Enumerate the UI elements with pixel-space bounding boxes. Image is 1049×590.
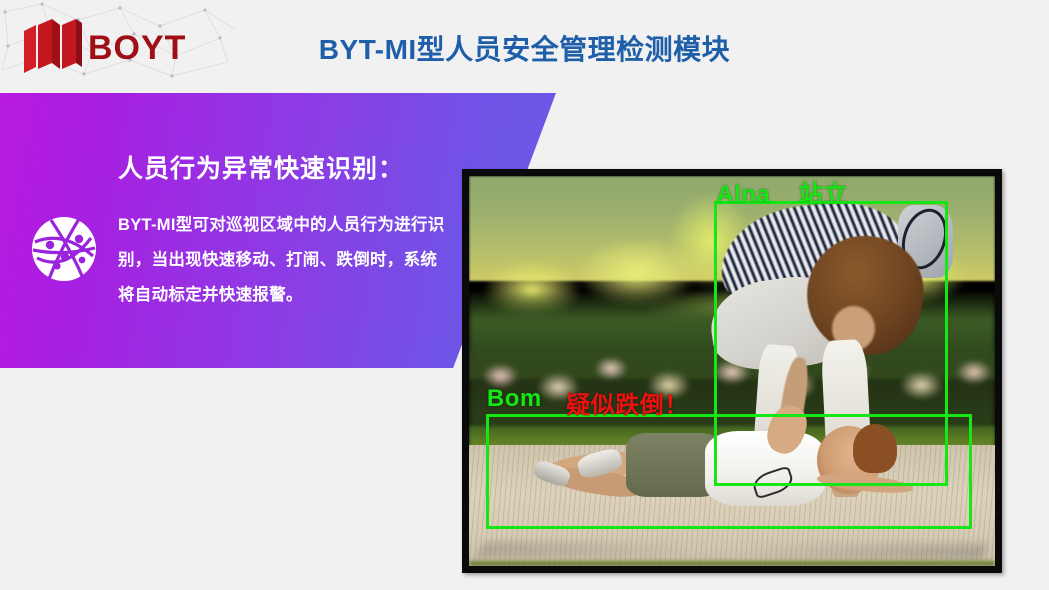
panel-heading: 人员行为异常快速识别： [118,149,404,185]
child-hair [853,424,897,473]
surveillance-photo: Alna 站立 Bom 疑似跌倒！ [469,176,995,566]
person-child [522,410,922,527]
scene-shadow-left [477,542,693,557]
surveillance-photo-frame: Alna 站立 Bom 疑似跌倒！ [462,169,1002,573]
detection-label-adult-state: 站立 [799,181,848,208]
panel-body-text: BYT-MI型可对巡视区域中的人员行为进行识别，当出现快速移动、打闹、跌倒时，系… [118,208,448,313]
network-globe-icon [27,212,101,286]
page-title: BYT-MI型人员安全管理检测模块 [0,28,1049,68]
scene-path-edge [469,560,995,566]
scene-shadow-right [740,544,988,560]
detection-label-adult-name: Alna [716,181,770,208]
detection-label-child-name: Bom [487,385,542,413]
detection-label-child-alert: 疑似跌倒！ [566,385,689,420]
detection-label-adult: Alna 站立 [716,176,848,209]
slide-canvas: BOYT BYT-MI型人员安全管理检测模块 人员行为异常快速识别： BYT-M… [0,0,1049,590]
